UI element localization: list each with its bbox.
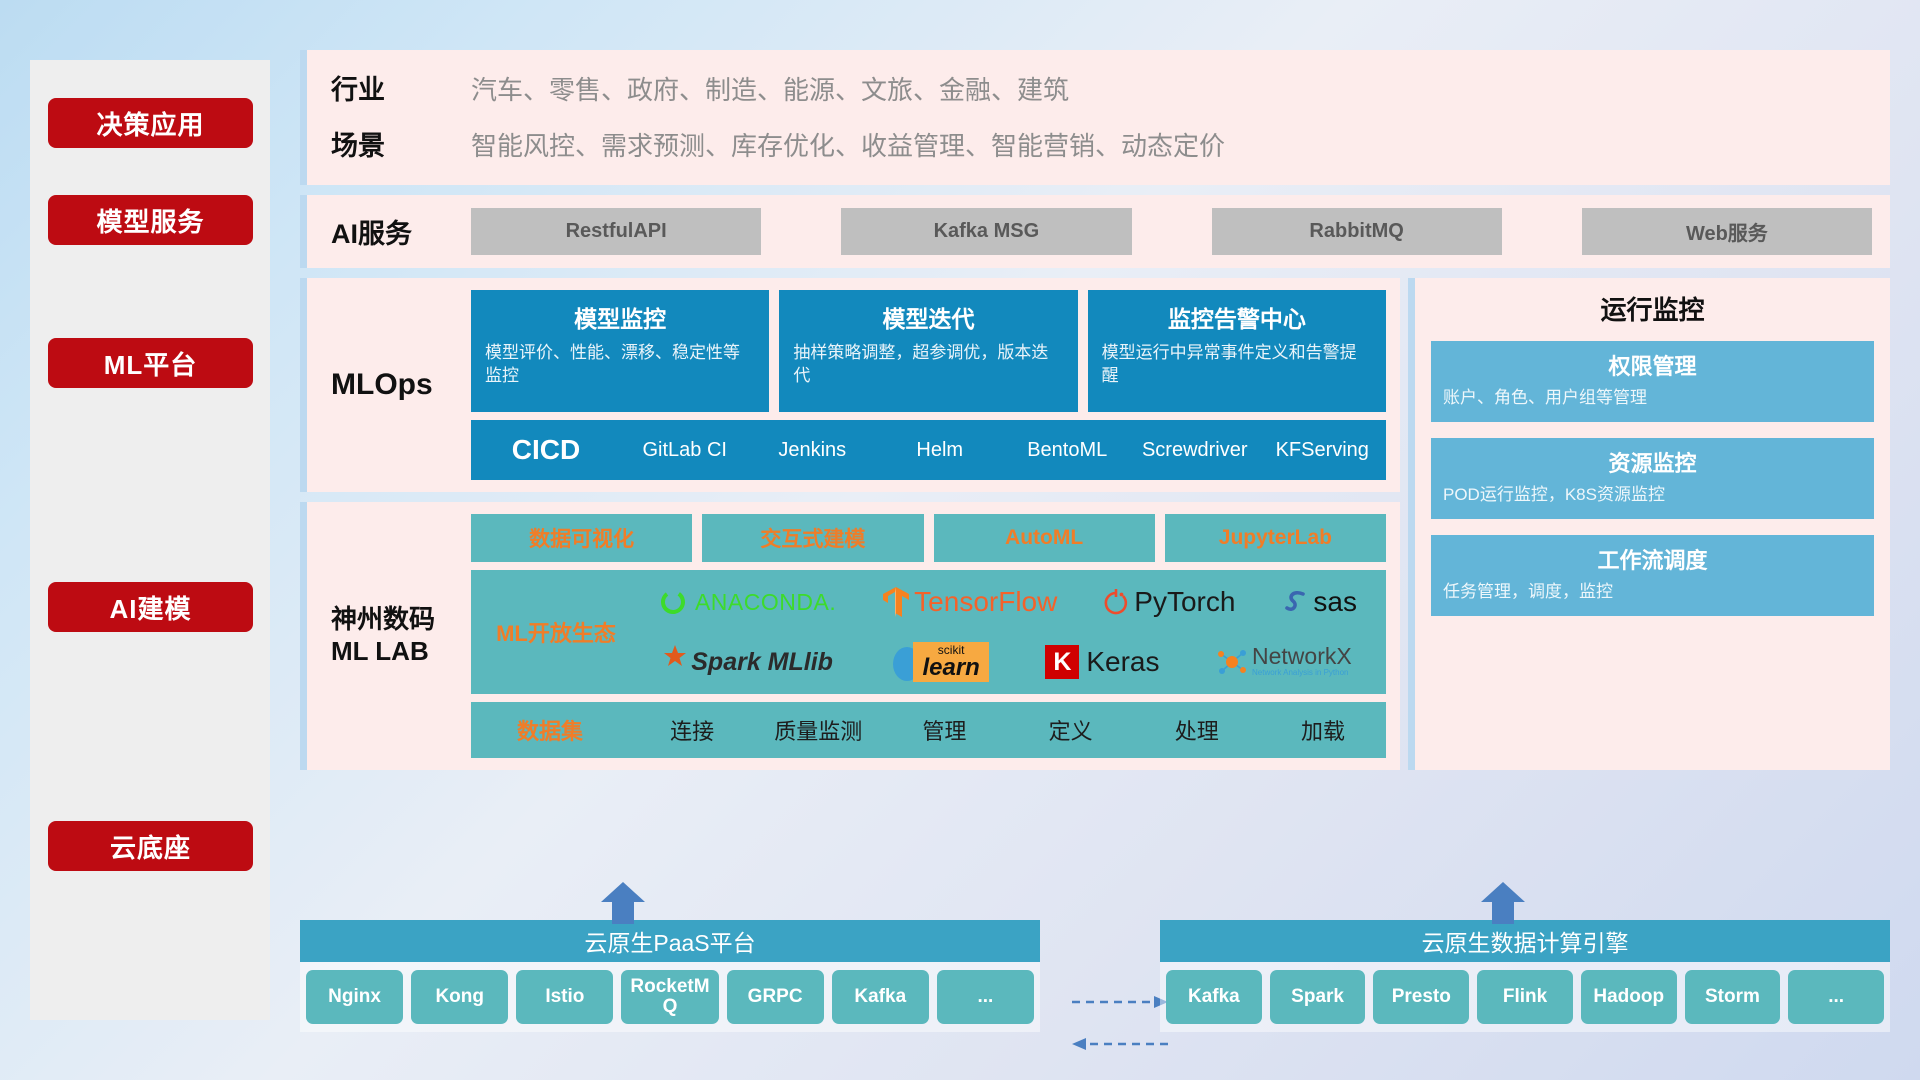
tool-interactive-modeling[interactable]: 交互式建模 — [702, 514, 923, 562]
dataset-item-manage[interactable]: 管理 — [881, 714, 1007, 746]
engine-chip-more[interactable]: ... — [1788, 970, 1884, 1024]
industry-label: 行业 — [331, 62, 451, 118]
rail-item-decision-apps[interactable]: 决策应用 — [48, 98, 253, 148]
cloud-paas-header: 云原生PaaS平台 — [300, 920, 1040, 962]
rail-item-ml-platform[interactable]: ML平台 — [48, 338, 253, 388]
ai-service-boxes: RestfulAPI Kafka MSG RabbitMQ Web服务 — [461, 208, 1872, 255]
spark-mllib-label: Spark MLlib — [691, 648, 833, 677]
scikit-learn-badge: scikit learn — [913, 642, 988, 682]
sas-icon — [1281, 587, 1311, 617]
card-title: 监控告警中心 — [1102, 300, 1372, 334]
cicd-item-kfserving[interactable]: KFServing — [1259, 440, 1387, 460]
tool-data-visualization[interactable]: 数据可视化 — [471, 514, 692, 562]
tensorflow-icon — [882, 586, 910, 618]
card-desc: 抽样策略调整，超参调优，版本迭代 — [793, 341, 1063, 388]
dataset-row: 数据集 连接 质量监测 管理 定义 处理 加载 — [471, 702, 1386, 758]
card-title: 模型迭代 — [793, 300, 1063, 334]
dataset-item-connect[interactable]: 连接 — [629, 714, 755, 746]
dataset-label: 数据集 — [471, 714, 629, 746]
mlops-cards: 模型监控 模型评价、性能、漂移、稳定性等监控 模型迭代 抽样策略调整，超参调优，… — [471, 290, 1386, 412]
dataset-item-process[interactable]: 处理 — [1134, 714, 1260, 746]
card-title: 工作流调度 — [1443, 543, 1862, 575]
up-arrow-icon-engine — [1480, 882, 1526, 924]
scikit-learn-logo: scikit learn — [889, 642, 988, 682]
networkx-label: NetworkX — [1252, 645, 1352, 668]
ml-lab-title-line2: ML LAB — [331, 636, 435, 668]
networkx-sublabel: Network Analysis in Python — [1252, 668, 1352, 678]
rail-label: 决策应用 — [96, 105, 204, 142]
engine-chip-spark[interactable]: Spark — [1270, 970, 1366, 1024]
keras-logo: K Keras — [1045, 645, 1159, 679]
spark-mllib-logo: Spark MLlib — [663, 644, 833, 680]
cloud-paas-chips: Nginx Kong Istio RocketMQ GRPC Kafka ... — [300, 962, 1040, 1032]
cloud-chip-rocketmq[interactable]: RocketMQ — [621, 970, 718, 1024]
ai-service-item-restfulapi[interactable]: RestfulAPI — [471, 208, 761, 255]
tensorflow-label: TensorFlow — [914, 586, 1057, 618]
pytorch-label: PyTorch — [1134, 586, 1235, 618]
rail-label: 云底座 — [110, 828, 191, 865]
monitor-card-permission-management[interactable]: 权限管理 账户、角色、用户组等管理 — [1431, 341, 1874, 422]
engine-chip-presto[interactable]: Presto — [1373, 970, 1469, 1024]
cicd-item-jenkins[interactable]: Jenkins — [749, 440, 877, 460]
dataset-item-quality-monitor[interactable]: 质量监测 — [755, 714, 881, 746]
card-title: 权限管理 — [1443, 349, 1862, 381]
anaconda-logo: ANACONDA. — [658, 587, 836, 617]
engine-chip-hadoop[interactable]: Hadoop — [1581, 970, 1677, 1024]
card-desc: POD运行监控，K8S资源监控 — [1443, 484, 1862, 507]
card-desc: 模型评价、性能、漂移、稳定性等监控 — [485, 341, 755, 388]
cicd-bar: CICD GitLab CI Jenkins Helm BentoML Scre… — [471, 420, 1386, 480]
tool-automl[interactable]: AutoML — [934, 514, 1155, 562]
runtime-monitoring-panel: 运行监控 权限管理 账户、角色、用户组等管理 资源监控 POD运行监控，K8S资… — [1408, 278, 1890, 770]
ml-lab-band: 神州数码 ML LAB 数据可视化 交互式建模 AutoML JupyterLa… — [300, 502, 1400, 770]
keras-icon: K — [1045, 645, 1079, 679]
scenario-label: 场景 — [331, 118, 451, 174]
cloud-chip-istio[interactable]: Istio — [516, 970, 613, 1024]
decision-apps-values: 汽车、零售、政府、制造、能源、文旅、金融、建筑 智能风控、需求预测、库存优化、收… — [451, 62, 1880, 174]
ai-service-item-rabbitmq[interactable]: RabbitMQ — [1212, 208, 1502, 255]
cloud-chip-nginx[interactable]: Nginx — [306, 970, 403, 1024]
rail-item-ai-modeling[interactable]: AI建模 — [48, 582, 253, 632]
ml-lab-title: 神州数码 ML LAB — [331, 514, 461, 758]
mlops-band: MLOps 模型监控 模型评价、性能、漂移、稳定性等监控 模型迭代 抽样策略调整… — [300, 278, 1400, 492]
card-desc: 账户、角色、用户组等管理 — [1443, 387, 1862, 410]
card-title: 模型监控 — [485, 300, 755, 334]
cloud-native-data-engine-group: 云原生数据计算引擎 Kafka Spark Presto Flink Hadoo… — [1160, 920, 1890, 1032]
engine-chip-storm[interactable]: Storm — [1685, 970, 1781, 1024]
ecosystem-logos-row-1: ANACONDA. TensorFlow — [635, 573, 1380, 631]
spark-star-icon — [663, 644, 687, 668]
left-layer-rail: 决策应用 模型服务 ML平台 AI建模 云底座 — [30, 60, 270, 1020]
ai-service-band: AI服务 RestfulAPI Kafka MSG RabbitMQ Web服务 — [300, 195, 1890, 268]
cloud-base-section: 云原生PaaS平台 Nginx Kong Istio RocketMQ GRPC… — [300, 880, 1890, 1045]
networkx-text: NetworkX Network Analysis in Python — [1252, 645, 1352, 678]
ai-service-title: AI服务 — [331, 212, 461, 251]
platform-column: MLOps 模型监控 模型评价、性能、漂移、稳定性等监控 模型迭代 抽样策略调整… — [300, 278, 1400, 770]
rail-label: ML平台 — [104, 345, 198, 382]
cloud-engine-header: 云原生数据计算引擎 — [1160, 920, 1890, 962]
ml-open-ecosystem-label: ML开放生态 — [477, 616, 635, 648]
engine-chip-flink[interactable]: Flink — [1477, 970, 1573, 1024]
card-desc: 模型运行中异常事件定义和告警提醒 — [1102, 341, 1372, 388]
ml-lab-title-line1: 神州数码 — [331, 604, 435, 636]
ml-open-ecosystem-row: ML开放生态 ANACONDA. — [471, 570, 1386, 694]
dataset-item-load[interactable]: 加载 — [1260, 714, 1386, 746]
scenario-value: 智能风控、需求预测、库存优化、收益管理、智能营销、动态定价 — [471, 118, 1880, 174]
engine-chip-kafka[interactable]: Kafka — [1166, 970, 1262, 1024]
rail-label: 模型服务 — [96, 202, 204, 239]
ai-service-item-web-service[interactable]: Web服务 — [1582, 208, 1872, 255]
cloud-chip-more[interactable]: ... — [937, 970, 1034, 1024]
tool-jupyterlab[interactable]: JupyterLab — [1165, 514, 1386, 562]
networkx-logo: NetworkX Network Analysis in Python — [1216, 645, 1352, 678]
pytorch-icon — [1103, 587, 1129, 617]
decision-apps-labels: 行业 场景 — [331, 62, 451, 174]
up-arrow-icon-paas — [600, 882, 646, 924]
card-title: 资源监控 — [1443, 446, 1862, 478]
tensorflow-logo: TensorFlow — [882, 586, 1057, 618]
ecosystem-logos-row-2: Spark MLlib scikit — [635, 633, 1380, 691]
architecture-main: 行业 场景 汽车、零售、政府、制造、能源、文旅、金融、建筑 智能风控、需求预测、… — [300, 50, 1890, 770]
cicd-item-bentoml[interactable]: BentoML — [1004, 440, 1132, 460]
cloud-engine-chips: Kafka Spark Presto Flink Hadoop Storm ..… — [1160, 962, 1890, 1032]
ai-service-item-kafka-msg[interactable]: Kafka MSG — [841, 208, 1131, 255]
rail-label: AI建模 — [109, 589, 191, 626]
cicd-label: CICD — [471, 434, 621, 466]
mlops-card-model-monitoring[interactable]: 模型监控 模型评价、性能、漂移、稳定性等监控 — [471, 290, 769, 412]
mlops-card-model-iteration[interactable]: 模型迭代 抽样策略调整，超参调优，版本迭代 — [779, 290, 1077, 412]
monitor-card-resource-monitoring[interactable]: 资源监控 POD运行监控，K8S资源监控 — [1431, 438, 1874, 519]
mlops-card-alert-center[interactable]: 监控告警中心 模型运行中异常事件定义和告警提醒 — [1088, 290, 1386, 412]
cloud-chip-grpc[interactable]: GRPC — [727, 970, 824, 1024]
sas-label: sas — [1313, 586, 1357, 618]
cicd-item-helm[interactable]: Helm — [876, 440, 1004, 460]
runtime-monitoring-title: 运行监控 — [1431, 290, 1874, 327]
mlops-title: MLOps — [331, 290, 461, 480]
platform-and-monitor: MLOps 模型监控 模型评价、性能、漂移、稳定性等监控 模型迭代 抽样策略调整… — [300, 278, 1890, 770]
monitor-card-workflow-scheduling[interactable]: 工作流调度 任务管理，调度，监控 — [1431, 535, 1874, 616]
cloud-chip-kong[interactable]: Kong — [411, 970, 508, 1024]
rail-item-cloud-base[interactable]: 云底座 — [48, 821, 253, 871]
cloud-native-paas-group: 云原生PaaS平台 Nginx Kong Istio RocketMQ GRPC… — [300, 920, 1040, 1032]
card-desc: 任务管理，调度，监控 — [1443, 581, 1862, 604]
cicd-item-gitlab-ci[interactable]: GitLab CI — [621, 440, 749, 460]
networkx-icon — [1216, 647, 1248, 677]
sas-logo: sas — [1281, 586, 1357, 618]
anaconda-icon — [658, 587, 688, 617]
rail-item-model-service[interactable]: 模型服务 — [48, 195, 253, 245]
anaconda-label: ANACONDA. — [695, 589, 836, 616]
cicd-item-screwdriver[interactable]: Screwdriver — [1131, 440, 1259, 460]
ml-lab-tools: 数据可视化 交互式建模 AutoML JupyterLab — [471, 514, 1386, 562]
decision-applications-band: 行业 场景 汽车、零售、政府、制造、能源、文旅、金融、建筑 智能风控、需求预测、… — [300, 50, 1890, 185]
industry-value: 汽车、零售、政府、制造、能源、文旅、金融、建筑 — [471, 62, 1880, 118]
dataset-item-define[interactable]: 定义 — [1008, 714, 1134, 746]
ecosystem-logos: ANACONDA. TensorFlow — [635, 573, 1380, 691]
cloud-chip-kafka[interactable]: Kafka — [832, 970, 929, 1024]
bidirectional-connector — [1070, 988, 1170, 1058]
keras-label: Keras — [1086, 646, 1159, 678]
pytorch-logo: PyTorch — [1103, 586, 1235, 618]
